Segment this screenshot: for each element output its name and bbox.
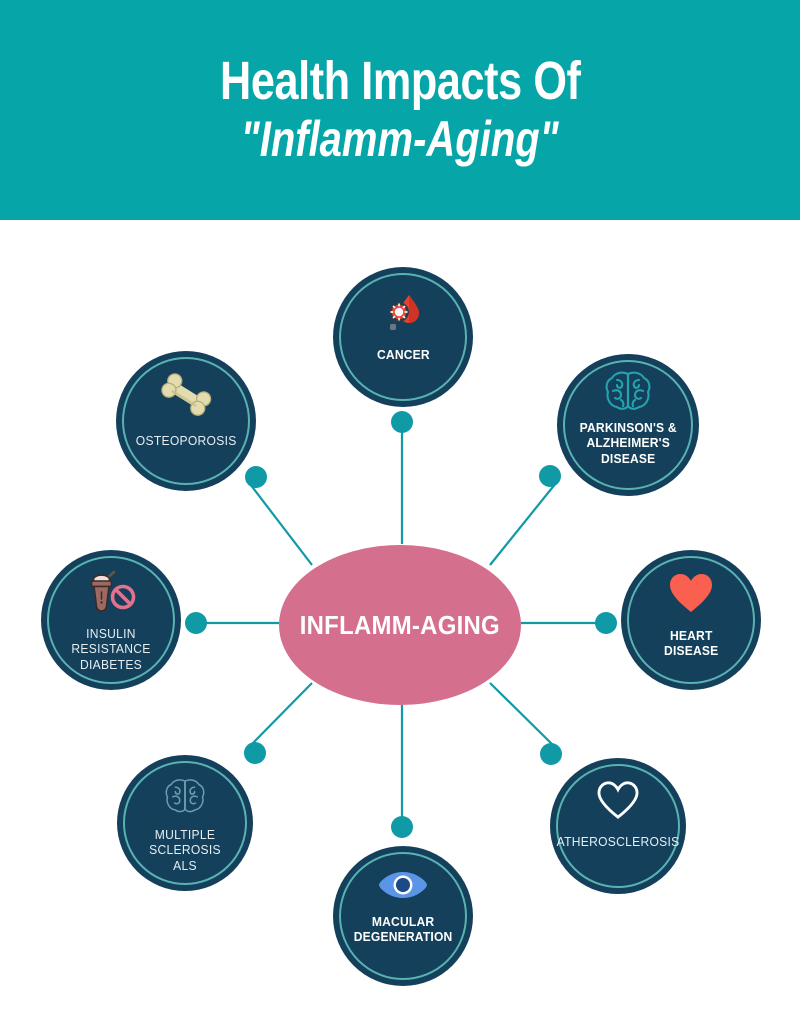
node-macular-label-line-2: DEGENERATION bbox=[354, 929, 453, 944]
node-ms-label: MULTIPLE SCLEROSIS ALS bbox=[122, 827, 248, 873]
page-title-line-1: Health Impacts Of bbox=[220, 54, 580, 109]
connector-dot-cancer bbox=[391, 411, 413, 433]
node-insulin-label-line-1: INSULIN RESISTANCE bbox=[55, 626, 167, 657]
node-multiple-sclerosis-als[interactable]: MULTIPLE SCLEROSIS ALS bbox=[117, 755, 253, 891]
node-ms-label-line-1: MULTIPLE SCLEROSIS bbox=[131, 827, 239, 858]
node-heart-label-line-2: DISEASE bbox=[664, 643, 718, 658]
node-atherosclerosis[interactable]: ATHEROSCLEROSIS bbox=[550, 758, 686, 894]
page-title-line-2: "Inflamm-Aging" bbox=[241, 113, 559, 166]
node-heart-label-line-1: HEART bbox=[664, 628, 718, 643]
node-heart-disease[interactable]: HEART DISEASE bbox=[621, 550, 761, 690]
connector-dot-macular bbox=[391, 816, 413, 838]
node-parkinsons-label: PARKINSON'S & ALZHEIMER'S DISEASE bbox=[570, 420, 686, 466]
node-parkinsons-label-line-2: ALZHEIMER'S bbox=[579, 435, 676, 450]
node-atherosclerosis-label: ATHEROSCLEROSIS bbox=[550, 834, 686, 849]
heart-outline-icon bbox=[596, 780, 640, 820]
center-node-label: INFLAMM-AGING bbox=[300, 610, 500, 641]
brain-icon bbox=[604, 370, 652, 412]
node-macular-degeneration[interactable]: MACULAR DEGENERATION bbox=[333, 846, 473, 986]
node-osteoporosis-label-line-1: OSTEOPOROSIS bbox=[136, 433, 237, 448]
connector-dot-insulin bbox=[185, 612, 207, 634]
connector-dot-heart bbox=[595, 612, 617, 634]
brain-outline-icon bbox=[164, 777, 206, 815]
blood-drop-magnifier-icon bbox=[380, 289, 426, 335]
no-sugar-drink-icon bbox=[83, 570, 139, 614]
center-node-inflamm-aging[interactable]: INFLAMM-AGING bbox=[279, 545, 521, 705]
hub-and-spoke-diagram: INFLAMM-AGING bbox=[0, 220, 800, 1034]
connector-osteoporosis bbox=[250, 484, 312, 565]
connector-parkinsons bbox=[490, 483, 556, 565]
connector-ms bbox=[249, 683, 312, 747]
infographic-page: Health Impacts Of "Inflamm-Aging" bbox=[0, 0, 800, 1034]
node-parkinsons-label-line-3: DISEASE bbox=[579, 451, 676, 466]
node-ms-label-line-2: ALS bbox=[131, 858, 239, 873]
node-osteoporosis[interactable]: OSTEOPOROSIS bbox=[116, 351, 256, 491]
node-insulin-label: INSULIN RESISTANCE DIABETES bbox=[46, 626, 176, 672]
connector-dot-osteoporosis bbox=[245, 466, 267, 488]
node-macular-label-line-1: MACULAR bbox=[354, 914, 453, 929]
node-macular-label: MACULAR DEGENERATION bbox=[344, 914, 461, 945]
node-cancer[interactable]: CANCER bbox=[333, 267, 473, 407]
connector-dot-parkinsons bbox=[539, 465, 561, 487]
connector-athero bbox=[490, 683, 556, 748]
node-insulin-resistance-diabetes[interactable]: INSULIN RESISTANCE DIABETES bbox=[41, 550, 181, 690]
node-cancer-label-line-1: CANCER bbox=[377, 347, 430, 362]
node-atherosclerosis-label-line-1: ATHEROSCLEROSIS bbox=[557, 834, 680, 849]
node-heart-label: HEART DISEASE bbox=[654, 628, 727, 659]
header-banner: Health Impacts Of "Inflamm-Aging" bbox=[0, 0, 800, 220]
connector-dot-athero bbox=[540, 743, 562, 765]
node-parkinsons-label-line-1: PARKINSON'S & bbox=[579, 420, 676, 435]
bone-icon bbox=[157, 373, 215, 417]
node-parkinsons-alzheimers[interactable]: PARKINSON'S & ALZHEIMER'S DISEASE bbox=[557, 354, 699, 496]
node-osteoporosis-label: OSTEOPOROSIS bbox=[126, 433, 245, 448]
node-cancer-label: CANCER bbox=[367, 347, 438, 362]
eye-icon bbox=[377, 870, 429, 900]
node-insulin-label-line-2: DIABETES bbox=[55, 657, 167, 672]
connector-dot-ms bbox=[244, 742, 266, 764]
heart-filled-icon bbox=[668, 572, 714, 614]
